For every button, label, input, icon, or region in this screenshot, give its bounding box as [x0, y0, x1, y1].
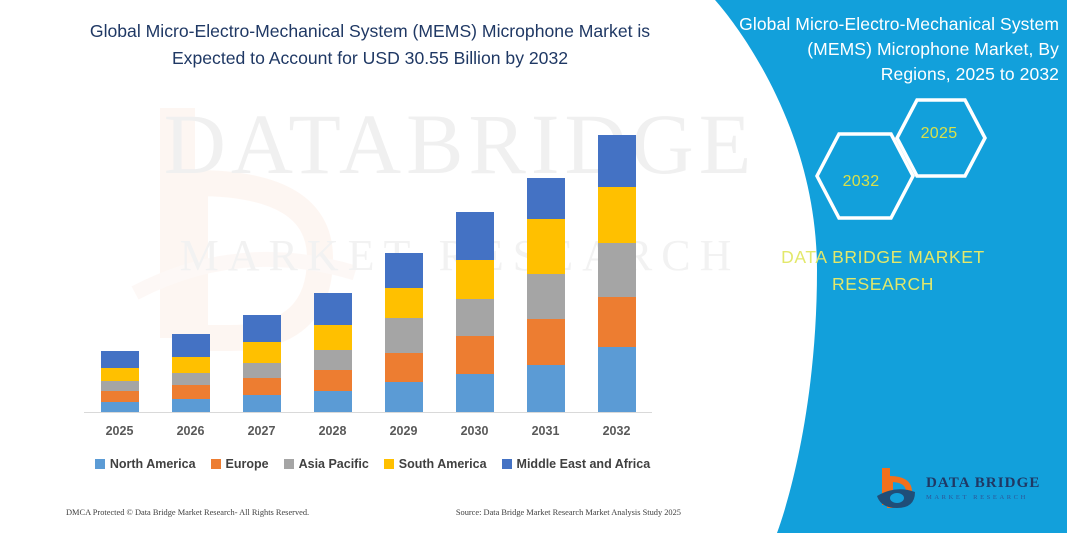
bar-segment — [456, 299, 494, 336]
bar-segment — [314, 370, 352, 391]
bar-column-2028 — [297, 120, 368, 412]
legend-label: South America — [399, 457, 487, 471]
bar-segment — [101, 391, 139, 402]
x-axis-line — [84, 412, 652, 413]
bar-segment — [456, 212, 494, 260]
stacked-bar — [101, 351, 139, 412]
stacked-bar — [598, 135, 636, 412]
bar-segment — [456, 336, 494, 374]
bar-segment — [598, 297, 636, 347]
stacked-bar — [243, 315, 281, 412]
bar-segment — [314, 391, 352, 412]
x-label-2030: 2030 — [439, 424, 510, 438]
bar-segment — [598, 187, 636, 243]
legend-swatch-icon — [284, 459, 294, 469]
legend-label: Asia Pacific — [299, 457, 369, 471]
bar-segment — [598, 347, 636, 412]
bar-segment — [101, 368, 139, 381]
bar-segment — [243, 378, 281, 395]
bar-segment — [243, 342, 281, 363]
bar-segment — [456, 260, 494, 299]
legend-swatch-icon — [502, 459, 512, 469]
legend-item: Europe — [211, 457, 269, 471]
bar-segment — [385, 253, 423, 288]
footer-copyright: DMCA Protected © Data Bridge Market Rese… — [66, 508, 309, 517]
blue-side-panel — [667, 0, 1067, 533]
bar-segment — [172, 399, 210, 412]
bar-segment — [385, 382, 423, 412]
bar-segment — [385, 353, 423, 382]
legend-swatch-icon — [211, 459, 221, 469]
x-axis-labels: 20252026202720282029203020312032 — [84, 424, 652, 438]
x-label-2032: 2032 — [581, 424, 652, 438]
legend-item: South America — [384, 457, 487, 471]
bar-segment — [101, 381, 139, 391]
bar-segment — [172, 385, 210, 399]
bar-segment — [527, 274, 565, 319]
bar-column-2029 — [368, 120, 439, 412]
bar-column-2030 — [439, 120, 510, 412]
bar-column-2032 — [581, 120, 652, 412]
legend-item: North America — [95, 457, 196, 471]
bar-segment — [172, 373, 210, 385]
bar-segment — [243, 315, 281, 342]
stacked-bar — [314, 293, 352, 412]
bar-column-2031 — [510, 120, 581, 412]
legend-swatch-icon — [384, 459, 394, 469]
bar-segment — [314, 293, 352, 325]
legend-swatch-icon — [95, 459, 105, 469]
x-label-2025: 2025 — [84, 424, 155, 438]
x-label-2026: 2026 — [155, 424, 226, 438]
stacked-bar — [385, 253, 423, 412]
bar-segment — [243, 363, 281, 378]
bar-segment — [527, 319, 565, 365]
x-label-2027: 2027 — [226, 424, 297, 438]
legend-label: North America — [110, 457, 196, 471]
bar-segment — [456, 374, 494, 412]
bar-segment — [385, 318, 423, 353]
bar-column-2026 — [155, 120, 226, 412]
bar-segment — [172, 334, 210, 357]
bar-segment — [598, 135, 636, 187]
legend-label: Europe — [226, 457, 269, 471]
bar-column-2025 — [84, 120, 155, 412]
legend-item: Middle East and Africa — [502, 457, 651, 471]
legend-item: Asia Pacific — [284, 457, 369, 471]
bar-segment — [527, 178, 565, 219]
stacked-bar-chart — [84, 120, 652, 412]
bar-column-2027 — [226, 120, 297, 412]
footer-source: Source: Data Bridge Market Research Mark… — [456, 508, 681, 517]
bar-segment — [243, 395, 281, 412]
stacked-bar — [172, 334, 210, 412]
bar-segment — [598, 243, 636, 297]
bar-segment — [101, 351, 139, 368]
stacked-bar — [456, 212, 494, 412]
chart-legend: North AmericaEuropeAsia PacificSouth Ame… — [60, 457, 685, 471]
bar-segment — [527, 365, 565, 412]
page-title: Global Micro-Electro-Mechanical System (… — [60, 18, 680, 72]
footer: DMCA Protected © Data Bridge Market Rese… — [66, 508, 681, 517]
x-label-2029: 2029 — [368, 424, 439, 438]
bar-segment — [172, 357, 210, 373]
x-label-2031: 2031 — [510, 424, 581, 438]
legend-label: Middle East and Africa — [517, 457, 651, 471]
chart-area: DATABRIDGE MARKET RESEARCH Global Micro-… — [0, 0, 720, 533]
bar-segment — [101, 402, 139, 412]
stacked-bar — [527, 178, 565, 412]
bar-segment — [385, 288, 423, 318]
bar-segment — [527, 219, 565, 274]
x-label-2028: 2028 — [297, 424, 368, 438]
bar-segment — [314, 350, 352, 370]
bar-segment — [314, 325, 352, 350]
infographic-root: DATABRIDGE MARKET RESEARCH Global Micro-… — [0, 0, 1067, 533]
